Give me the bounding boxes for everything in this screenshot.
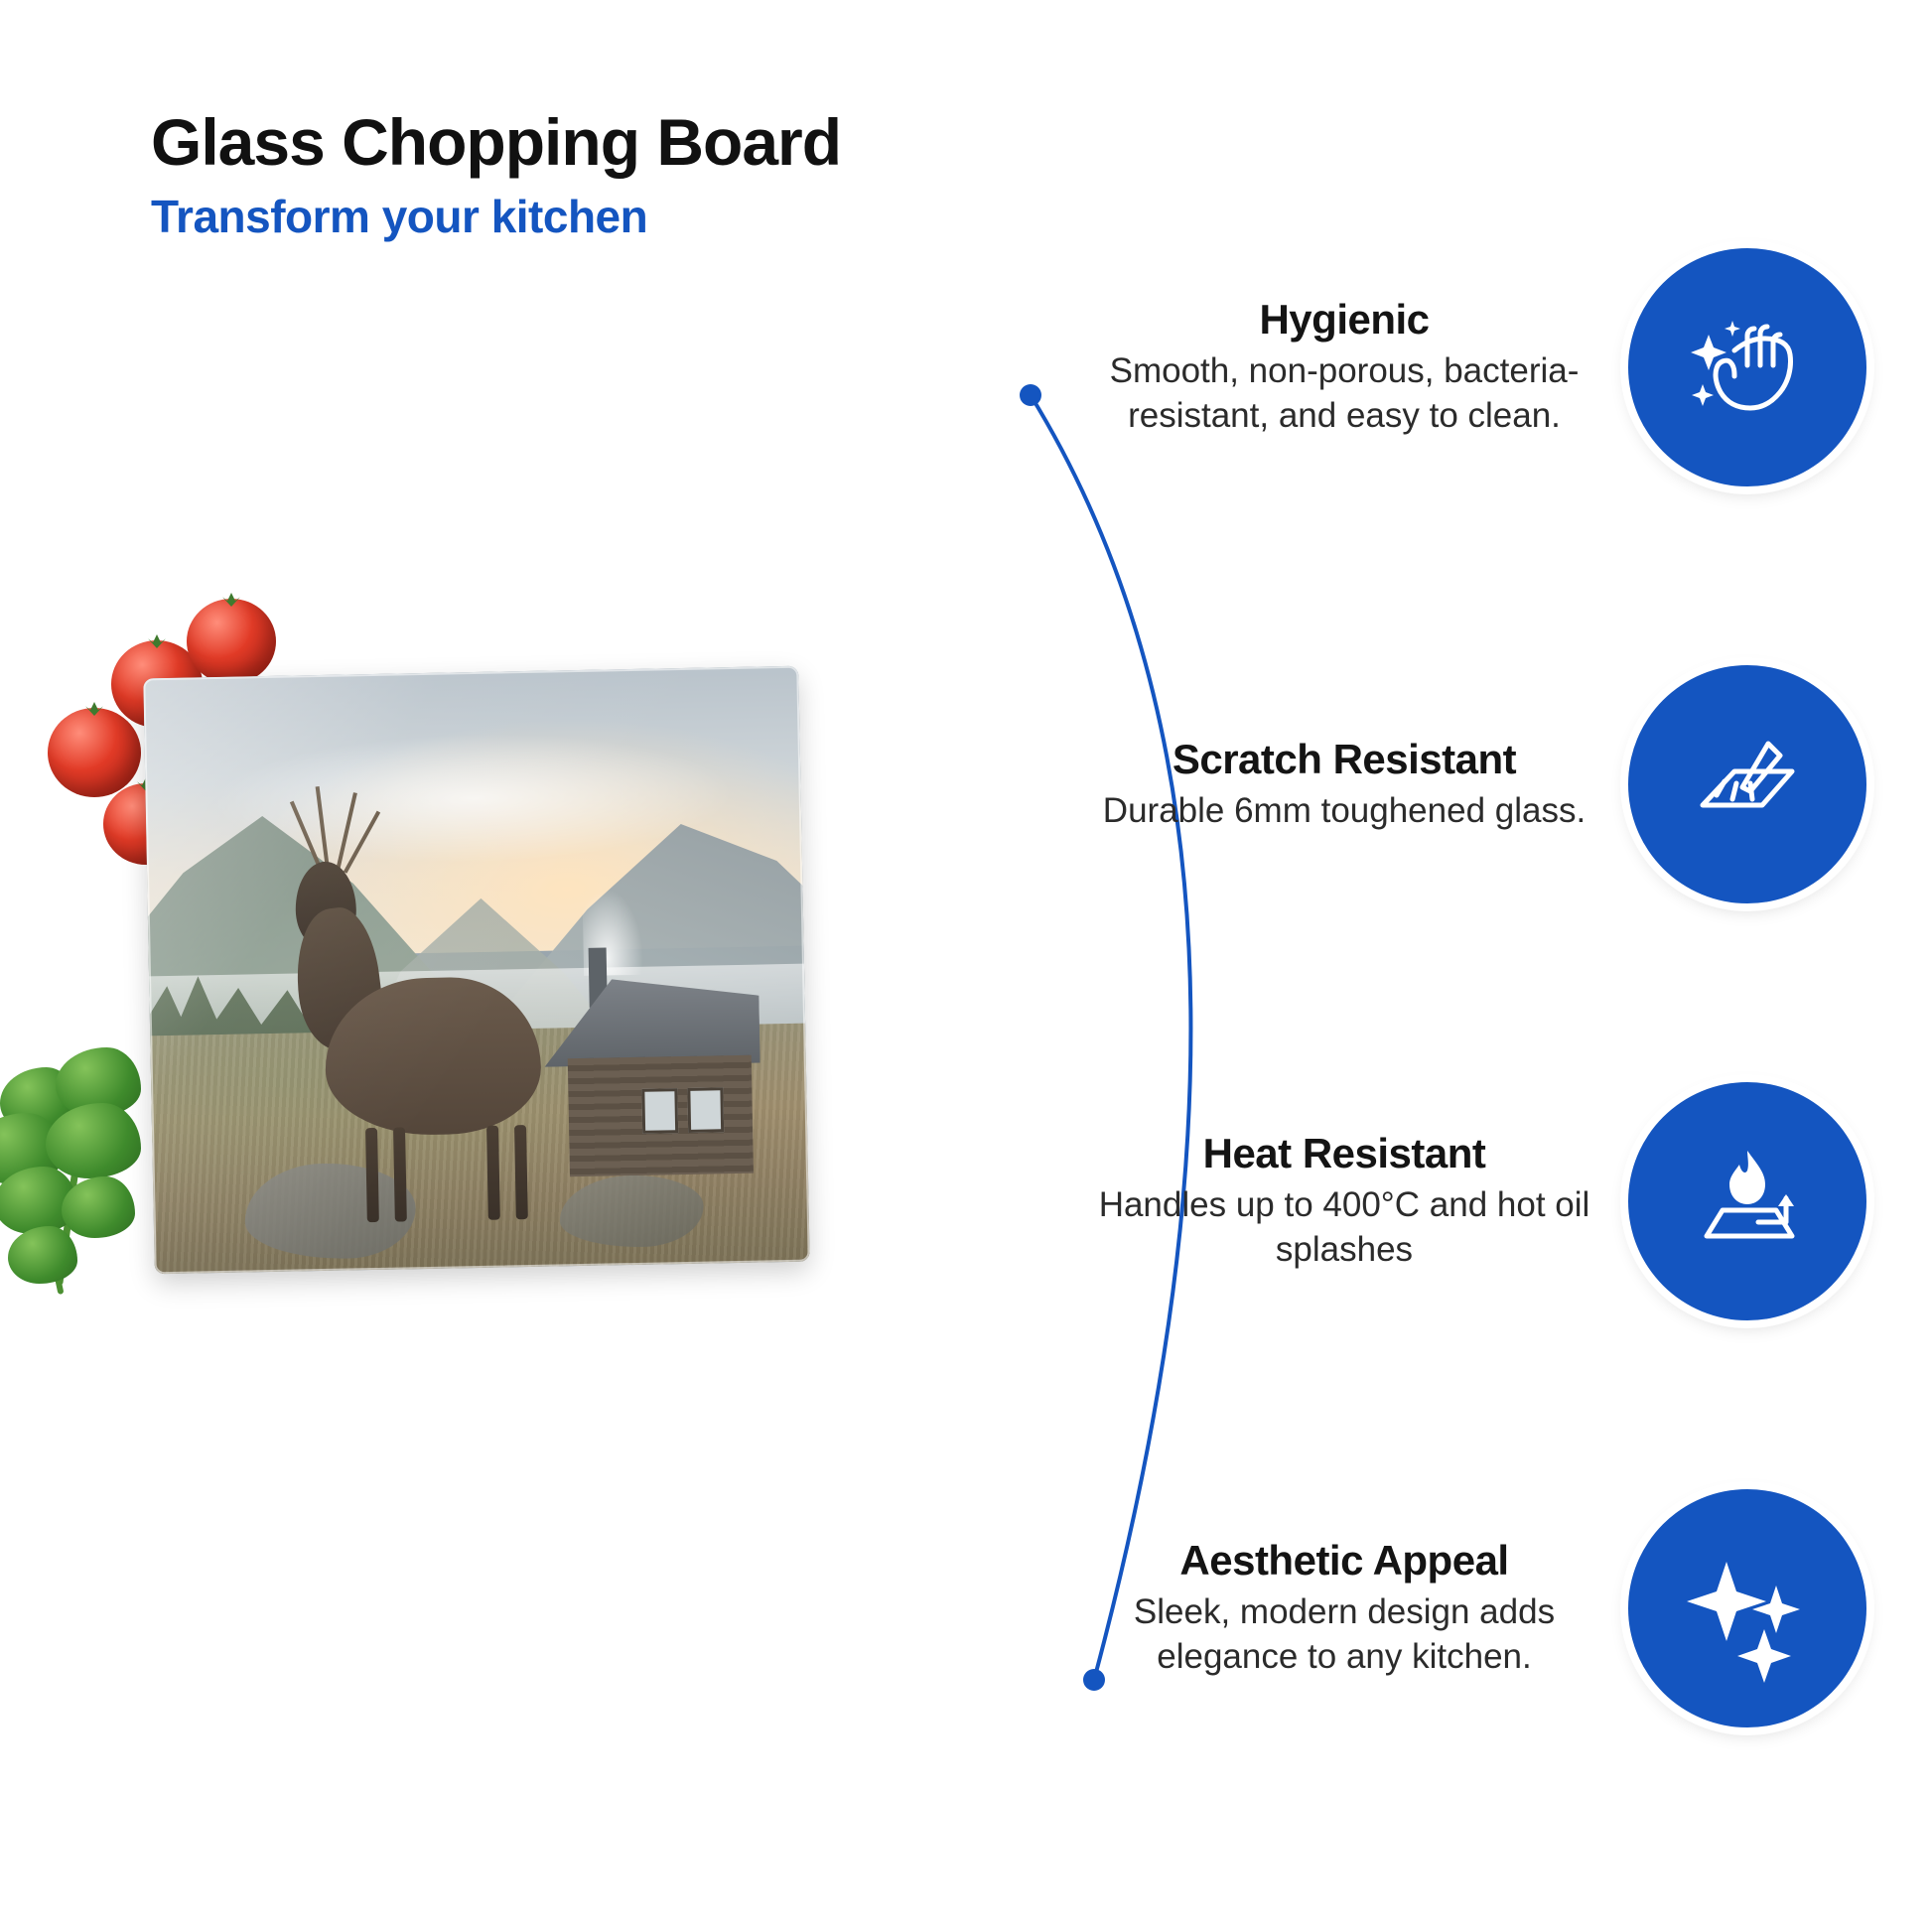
- feature-item-hygienic: Hygienic Smooth, non-porous, bacteria-re…: [1042, 248, 1866, 486]
- scene-cottage-roof: [529, 977, 760, 1068]
- feature-title: Heat Resistant: [1086, 1130, 1602, 1177]
- scene-stag-leg: [393, 1127, 407, 1221]
- feature-item-heat-resistant: Heat Resistant Handles up to 400°C and h…: [1042, 1082, 1866, 1320]
- scene-cottage-window: [641, 1088, 678, 1134]
- feature-text: Aesthetic Appeal Sleek, modern design ad…: [1086, 1537, 1628, 1680]
- page-title: Glass Chopping Board: [151, 107, 1144, 178]
- feature-item-scratch-resistant: Scratch Resistant Durable 6mm toughened …: [1042, 665, 1866, 903]
- feature-description: Smooth, non-porous, bacteria-resistant, …: [1086, 349, 1602, 439]
- headline-block: Glass Chopping Board Transform your kitc…: [151, 107, 1144, 242]
- flame-heat-surface-icon: [1673, 1127, 1822, 1276]
- page-subtitle: Transform your kitchen: [151, 192, 1144, 242]
- tomato-3: [48, 708, 141, 797]
- scene-stag-leg: [514, 1125, 528, 1219]
- knife-scratch-surface-icon: [1673, 710, 1822, 859]
- feature-title: Hygienic: [1086, 296, 1602, 344]
- feature-text: Scratch Resistant Durable 6mm toughened …: [1086, 736, 1628, 834]
- feature-title: Scratch Resistant: [1086, 736, 1602, 783]
- parsley-garnish: [0, 1047, 199, 1296]
- feature-text: Heat Resistant Handles up to 400°C and h…: [1086, 1130, 1628, 1273]
- scene-cottage-window: [687, 1087, 724, 1133]
- scene-cottage: [529, 977, 762, 1177]
- sparkle-hand-wipe-icon: [1673, 293, 1822, 442]
- feature-badge: [1628, 1082, 1866, 1320]
- feature-description: Handles up to 400°C and hot oil splashes: [1086, 1183, 1602, 1273]
- feature-description: Sleek, modern design adds elegance to an…: [1086, 1590, 1602, 1680]
- scene-stag: [277, 826, 560, 1224]
- scene-stag-leg: [365, 1128, 379, 1222]
- sparkles-icon: [1673, 1534, 1822, 1683]
- feature-description: Durable 6mm toughened glass.: [1086, 789, 1602, 834]
- glass-chopping-board: [143, 666, 809, 1275]
- feature-badge: [1628, 665, 1866, 903]
- scene-stag-leg: [486, 1126, 500, 1220]
- parsley-leaf: [8, 1226, 77, 1284]
- feature-text: Hygienic Smooth, non-porous, bacteria-re…: [1086, 296, 1628, 439]
- feature-item-aesthetic-appeal: Aesthetic Appeal Sleek, modern design ad…: [1042, 1489, 1866, 1727]
- tomato-stem-icon: [222, 593, 240, 607]
- tomato-stem-icon: [85, 702, 103, 716]
- feature-badge: [1628, 248, 1866, 486]
- tomato-2: [187, 599, 276, 684]
- feature-badge: [1628, 1489, 1866, 1727]
- infographic-canvas: Glass Chopping Board Transform your kitc…: [0, 0, 1932, 1932]
- tomato-stem-icon: [148, 634, 166, 648]
- feature-title: Aesthetic Appeal: [1086, 1537, 1602, 1585]
